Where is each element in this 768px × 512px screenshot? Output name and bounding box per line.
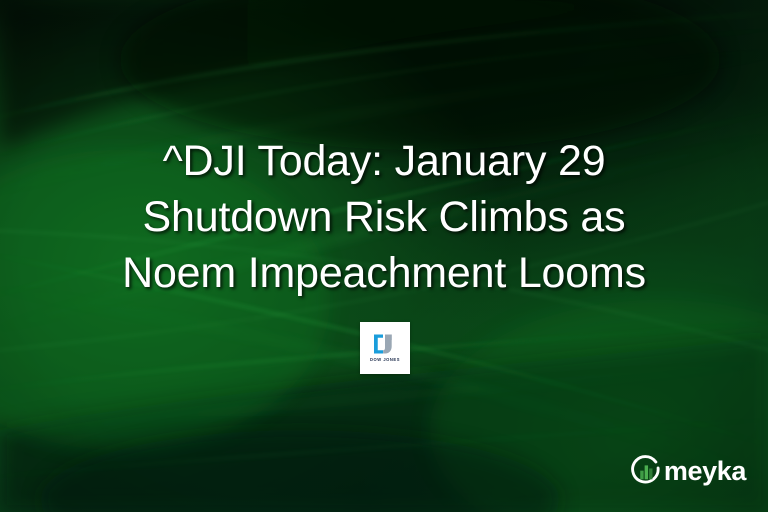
page-title: ^DJI Today: January 29 Shutdown Risk Cli…	[0, 133, 768, 301]
circle-bar-chart-icon	[629, 454, 663, 488]
brand-logo: meyka	[629, 454, 746, 488]
headline-line-2: Shutdown Risk Climbs as	[46, 189, 722, 245]
headline-line-3: Noem Impeachment Looms	[46, 245, 722, 301]
dow-jones-mark-icon	[372, 333, 398, 355]
social-share-card: ^DJI Today: January 29 Shutdown Risk Cli…	[0, 0, 768, 512]
dow-jones-wordmark: DOW JONES	[370, 358, 400, 362]
brand-wordmark: meyka	[664, 458, 746, 485]
dow-jones-logo-card: DOW JONES	[360, 322, 410, 374]
headline-line-1: ^DJI Today: January 29	[46, 133, 722, 189]
